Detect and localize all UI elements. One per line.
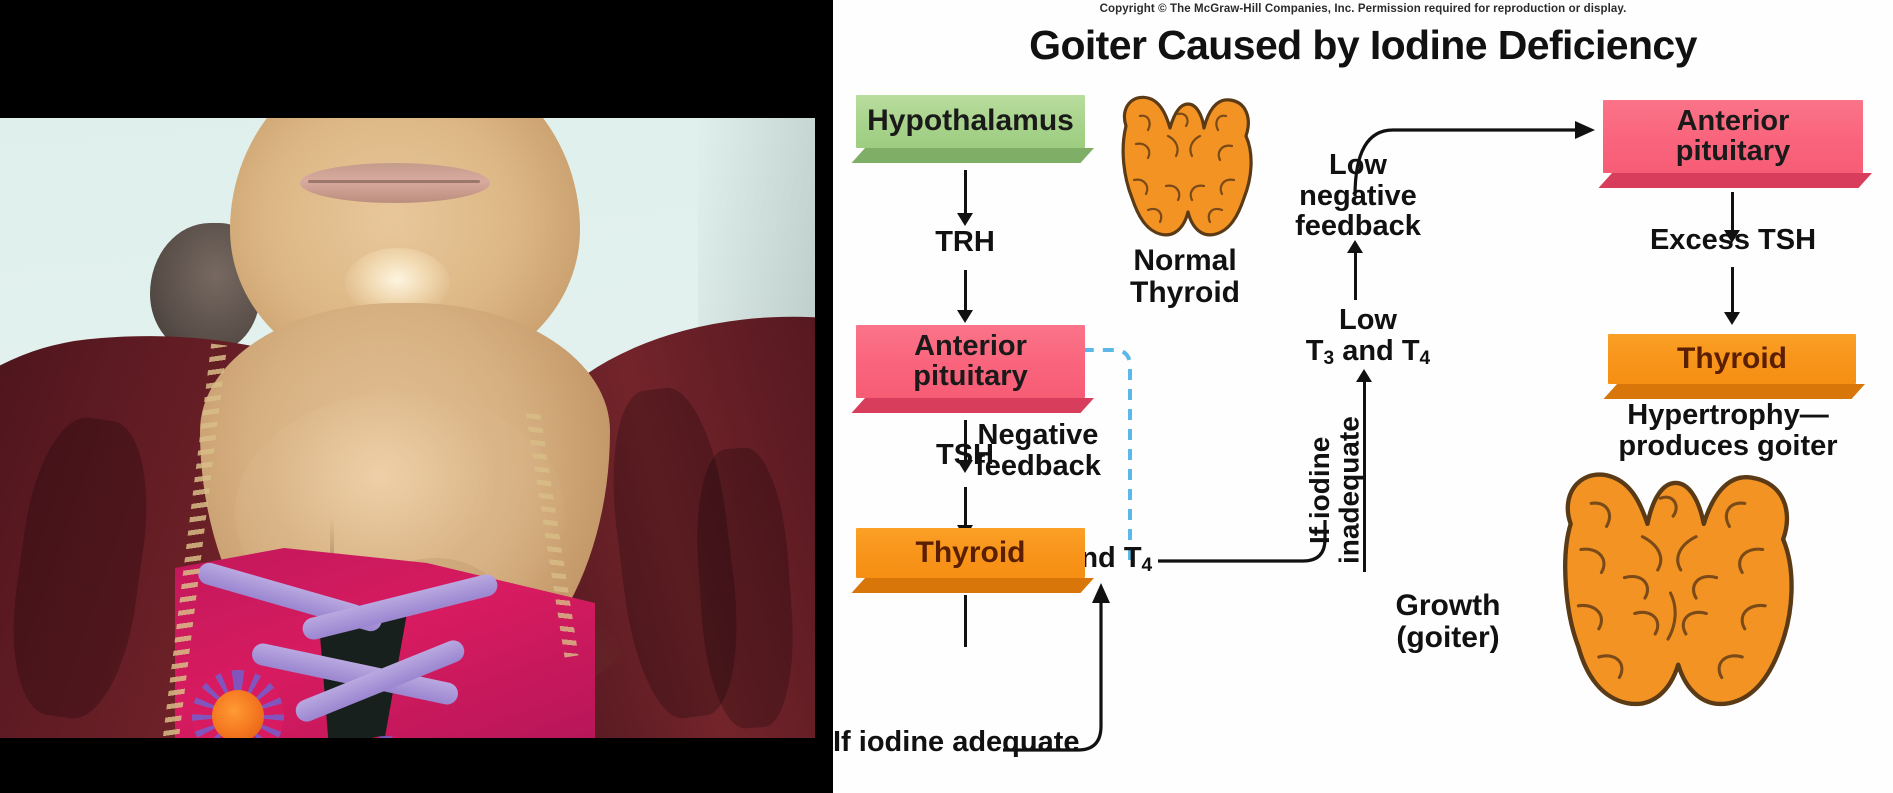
- trh-to-pituitary-arrowhead: [957, 310, 973, 323]
- low-negative-feedback-label: Low negative feedback: [1263, 150, 1453, 242]
- excess-tsh-to-thyroid-arrowhead: [1724, 312, 1740, 325]
- anterior-pituitary-right-line1: Anterior: [1677, 107, 1790, 137]
- negative-feedback-label: Negative feedback: [943, 420, 1133, 481]
- anterior-pituitary-right-line2: pituitary: [1676, 137, 1790, 167]
- lip-line: [308, 180, 480, 183]
- growth-goiter-label: Growth (goiter): [1353, 590, 1543, 654]
- low-t4-subscript: 4: [1420, 348, 1431, 369]
- hypothalamus-to-trh-arrowhead: [957, 213, 973, 226]
- normal-thyroid-label: Normal Thyroid: [1095, 245, 1275, 309]
- lips: [300, 163, 490, 203]
- iodine-inadequate-up-arrowhead: [1356, 369, 1372, 382]
- low-negative-feedback-arrowhead: [1575, 121, 1595, 139]
- low-negative-feedback-line2: negative: [1263, 181, 1453, 212]
- anterior-pituitary-label-line1: Anterior: [914, 332, 1027, 362]
- letterbox-right: [815, 0, 833, 793]
- if-iodine-inadequate-line1: If iodine: [1304, 436, 1335, 543]
- anterior-pituitary-box-right-label-wrap: Anterior pituitary: [1603, 100, 1863, 173]
- hypertrophy-line2: produces goiter: [1573, 431, 1883, 462]
- thyroid-to-iodine-adequate-line: [964, 595, 967, 647]
- screenshot-root: Copyright © The McGraw-Hill Companies, I…: [0, 0, 1893, 793]
- low-t3-subscript: 3: [1324, 348, 1335, 369]
- normal-thyroid-label-line1: Normal: [1095, 245, 1275, 277]
- clinical-photo-panel: [0, 0, 833, 793]
- if-iodine-adequate-label: If iodine adequate: [833, 727, 1123, 758]
- growth-goiter-line1: Growth: [1353, 590, 1543, 622]
- anterior-pituitary-box-left-label-wrap: Anterior pituitary: [856, 325, 1085, 398]
- copyright-notice: Copyright © The McGraw-Hill Companies, I…: [833, 3, 1893, 15]
- growth-goiter-line2: (goiter): [1353, 622, 1543, 654]
- t4-subscript: 4: [1142, 555, 1153, 576]
- hypothalamus-to-trh-line: [964, 170, 967, 215]
- low-t3-t4-and: and T: [1334, 335, 1419, 367]
- normal-thyroid-gland-icon: [1123, 97, 1251, 235]
- low-t3-t4-label: Low T3 and T4: [1273, 305, 1463, 369]
- thyroid-box-right-label: Thyroid: [1608, 334, 1856, 384]
- trh-to-pituitary-line: [964, 270, 967, 312]
- goiter-diagram-panel: Copyright © The McGraw-Hill Companies, I…: [833, 0, 1893, 793]
- low-t3-t4-t: T: [1306, 335, 1324, 367]
- low-t3t4-to-lownegfeedback-line: [1354, 252, 1357, 300]
- negative-feedback-line1: Negative: [943, 420, 1133, 451]
- tsh-to-thyroid-line: [964, 487, 967, 529]
- hypertrophy-label: Hypertrophy— produces goiter: [1573, 400, 1883, 461]
- anterior-pituitary-label-line2: pituitary: [913, 362, 1027, 392]
- flower-center-1: [212, 690, 264, 738]
- low-negative-feedback-line1: Low: [1263, 150, 1453, 181]
- letterbox-bottom: [0, 738, 833, 793]
- anterior-pituitary-box-left[interactable]: Anterior pituitary: [856, 325, 1085, 398]
- normal-thyroid-label-line2: Thyroid: [1095, 277, 1275, 309]
- iodine-adequate-arrowhead: [1092, 583, 1110, 603]
- if-iodine-inadequate-label: If iodine inadequate: [1305, 390, 1364, 590]
- iodine-inadequate-path: [1158, 520, 1325, 561]
- goiter-patient-photo: [0, 118, 818, 738]
- thyroid-box-right[interactable]: Thyroid: [1608, 334, 1856, 384]
- excess-tsh-to-thyroid-line: [1731, 267, 1734, 315]
- low-negative-feedback-line3: feedback: [1263, 211, 1453, 242]
- thyroid-box-left-label: Thyroid: [856, 528, 1085, 578]
- hypertrophy-line1: Hypertrophy—: [1573, 400, 1883, 431]
- goiter-thyroid-gland-icon: [1565, 475, 1791, 704]
- trh-label: TRH: [905, 227, 1025, 258]
- anterior-pituitary-box-right[interactable]: Anterior pituitary: [1603, 100, 1863, 173]
- hypothalamus-box[interactable]: Hypothalamus: [856, 95, 1085, 148]
- iodine-inadequate-up-line: [1363, 382, 1366, 572]
- if-iodine-inadequate-line2: inadequate: [1333, 416, 1364, 564]
- letterbox-top: [0, 0, 833, 118]
- page-title: Goiter Caused by Iodine Deficiency: [833, 22, 1893, 69]
- low-t3-t4-line2: T3 and T4: [1273, 336, 1463, 369]
- thyroid-box-left[interactable]: Thyroid: [856, 528, 1085, 578]
- excess-tsh-label: Excess TSH: [1608, 225, 1858, 256]
- hypothalamus-box-label: Hypothalamus: [856, 95, 1085, 148]
- low-t3-t4-line1: Low: [1273, 305, 1463, 336]
- negative-feedback-line2: feedback: [943, 451, 1133, 482]
